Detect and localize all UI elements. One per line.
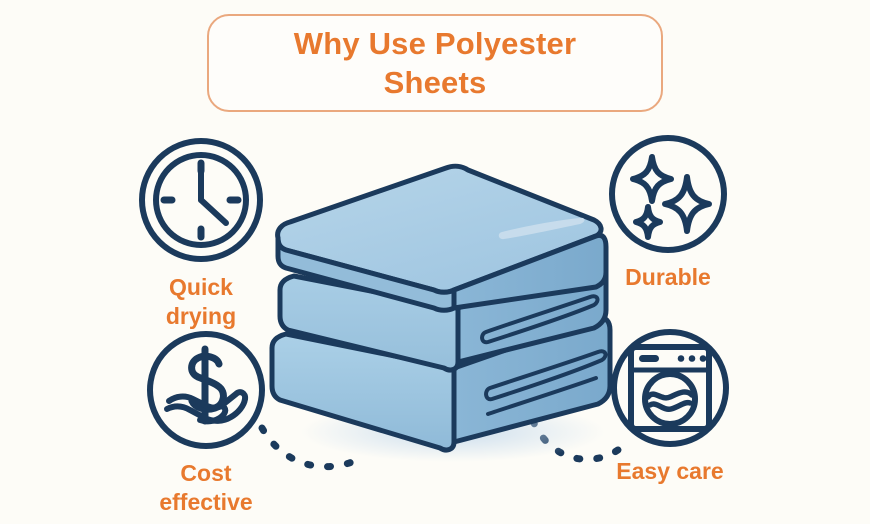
title-line-2: Sheets (384, 65, 487, 100)
feature-durable[interactable]: Durable (603, 133, 733, 292)
feature-label-easy-care: Easy care (616, 457, 723, 486)
feature-cost-effective[interactable]: Cost effective (126, 329, 286, 518)
sparkles-icon (607, 133, 729, 255)
money-hand-icon (145, 329, 267, 451)
feature-label-cost-effective: Cost effective (159, 459, 252, 518)
feature-label-quick-drying: Quick drying (166, 273, 236, 332)
title-line-1: Why Use Polyester (294, 26, 577, 61)
infographic-canvas: Why Use Polyester Sheets (0, 0, 870, 524)
folded-sheets-illustration (258, 150, 618, 470)
feature-quick-drying[interactable]: Quick drying (126, 135, 276, 332)
washing-machine-icon (609, 327, 731, 449)
title-card: Why Use Polyester Sheets (207, 14, 663, 112)
page-title: Why Use Polyester Sheets (268, 24, 603, 102)
feature-easy-care[interactable]: Easy care (600, 327, 740, 486)
feature-label-durable: Durable (625, 263, 711, 292)
clock-icon (136, 135, 266, 265)
